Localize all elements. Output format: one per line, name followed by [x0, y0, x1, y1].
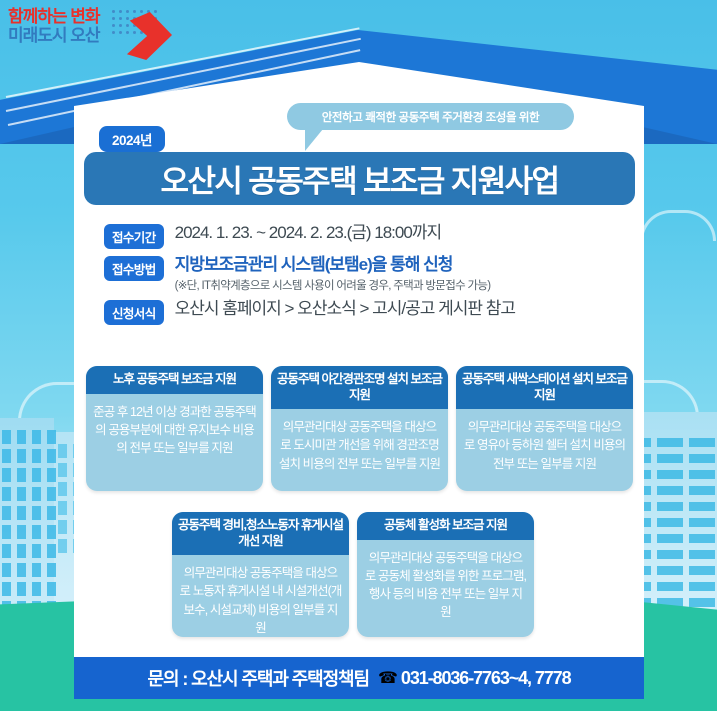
- program-card-body: 준공 후 12년 이상 경과한 공동주택의 공용부분에 대한 유지보수 비용의 …: [86, 394, 263, 491]
- info-label-form: 신청서식: [104, 300, 164, 325]
- tagline-bubble: 안전하고 쾌적한 공동주택 주거환경 조성을 위한: [287, 103, 574, 130]
- phone-icon: ☎: [378, 668, 398, 688]
- program-card-sprout-station: 공동주택 새싹스테이션 설치 보조금 지원 의무관리대상 공동주택을 대상으로 …: [456, 366, 633, 491]
- program-card-title: 노후 공동주택 보조금 지원: [86, 366, 263, 394]
- page-title-bar: 오산시 공동주택 보조금 지원사업: [84, 152, 635, 205]
- program-card-worker-rest-facility: 공동주택 경비,청소노동자 휴게시설 개선 지원 의무관리대상 공동주택을 대상…: [172, 512, 349, 637]
- info-row-period: 접수기간 2024. 1. 23. ~ 2024. 2. 23.(금) 18:0…: [104, 222, 634, 249]
- year-badge: 2024년: [99, 126, 165, 152]
- building-windows-left: [2, 430, 56, 615]
- program-card-night-lighting: 공동주택 야간경관조명 설치 보조금 지원 의무관리대상 공동주택을 대상으로 …: [271, 366, 448, 491]
- info-value-method: 지방보조금관리 시스템(보탬e)을 통해 신청: [175, 255, 453, 274]
- info-note-method: (※단, IT취약계층으로 시스템 사용이 어려울 경우, 주택과 방문접수 가…: [175, 277, 491, 293]
- contact-department: 문의 : 오산시 주택과 주택정책팀: [148, 665, 369, 691]
- program-card-title: 공동주택 경비,청소노동자 휴게시설 개선 지원: [172, 512, 349, 555]
- program-card-body: 의무관리대상 공동주택을 대상으로 공동체 활성화를 위한 프로그램, 행사 등…: [357, 540, 534, 637]
- info-value-form: 오산시 홈페이지 > 오산소식 > 고시/공고 게시판 참고: [175, 298, 515, 319]
- info-label-method: 접수방법: [104, 256, 164, 281]
- program-card-body: 의무관리대상 공동주택을 대상으로 노동자 휴게시설 내 시설개선(개보수, 시…: [172, 555, 349, 637]
- page-title: 오산시 공동주택 보조금 지원사업: [161, 156, 559, 201]
- program-card-title: 공동주택 야간경관조명 설치 보조금 지원: [271, 366, 448, 409]
- tagline-bubble-tail: [305, 129, 323, 151]
- program-card-title: 공동체 활성화 보조금 지원: [357, 512, 534, 540]
- program-card-body: 의무관리대상 공동주택을 대상으로 영유아 등하원 쉘터 설치 비용의 전부 또…: [456, 409, 633, 491]
- program-cards-row-2: 공동주택 경비,청소노동자 휴게시설 개선 지원 의무관리대상 공동주택을 대상…: [172, 512, 534, 637]
- info-row-method: 접수방법 지방보조금관리 시스템(보탬e)을 통해 신청 (※단, IT취약계층…: [104, 254, 634, 293]
- info-row-form: 신청서식 오산시 홈페이지 > 오산소식 > 고시/공고 게시판 참고: [104, 298, 634, 325]
- tagline-text: 안전하고 쾌적한 공동주택 주거환경 조성을 위한: [322, 109, 540, 125]
- program-cards-row-1: 노후 공동주택 보조금 지원 준공 후 12년 이상 경과한 공동주택의 공용부…: [86, 366, 633, 491]
- info-label-period: 접수기간: [104, 224, 164, 249]
- program-card-community-activation: 공동체 활성화 보조금 지원 의무관리대상 공동주택을 대상으로 공동체 활성화…: [357, 512, 534, 637]
- program-card-body: 의무관리대상 공동주택을 대상으로 도시미관 개선을 위해 경관조명 설치 비용…: [271, 409, 448, 491]
- info-value-method-group: 지방보조금관리 시스템(보탬e)을 통해 신청 (※단, IT취약계층으로 시스…: [175, 254, 491, 293]
- contact-phone-number: 031-8036-7763~4, 7778: [401, 668, 571, 689]
- osan-city-logo: 함께하는 변화 미래도시 오산: [8, 8, 168, 56]
- program-card-title: 공동주택 새싹스테이션 설치 보조금 지원: [456, 366, 633, 409]
- program-card-old-apartment: 노후 공동주택 보조금 지원 준공 후 12년 이상 경과한 공동주택의 공용부…: [86, 366, 263, 491]
- contact-footer-bar: 문의 : 오산시 주택과 주택정책팀 ☎ 031-8036-7763~4, 77…: [74, 657, 644, 699]
- info-list: 접수기간 2024. 1. 23. ~ 2024. 2. 23.(금) 18:0…: [104, 222, 634, 330]
- info-value-period: 2024. 1. 23. ~ 2024. 2. 23.(금) 18:00까지: [175, 222, 441, 243]
